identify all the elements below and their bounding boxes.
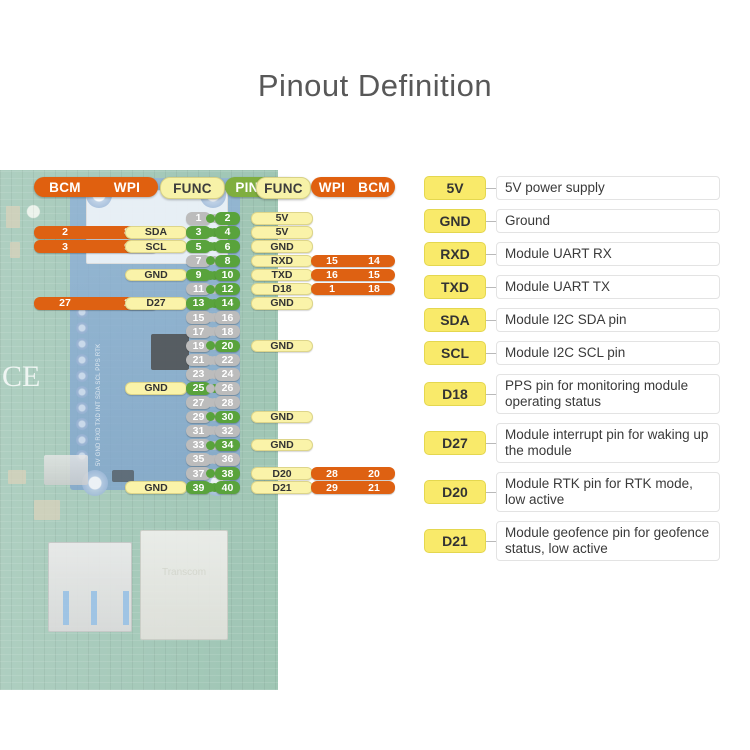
legend-row: D27Module interrupt pin for waking up th…: [424, 423, 720, 463]
legend-description: Module I2C SDA pin: [496, 308, 720, 332]
pin-row: 1112D18118: [0, 283, 420, 296]
pin-row: 78RXD1514: [0, 255, 420, 268]
legend-description: PPS pin for monitoring module operating …: [496, 374, 720, 414]
pin-row: 3334GND: [0, 439, 420, 452]
legend-connector-line: [486, 221, 496, 222]
pin-row: 28SDA345V: [0, 226, 420, 239]
right-pin-connector-dot: [206, 313, 215, 322]
pin-row: 2728: [0, 396, 420, 409]
pin-row: 2324: [0, 368, 420, 381]
pin-row: 1920GND: [0, 340, 420, 353]
right-pin-number[interactable]: 2: [215, 212, 240, 225]
legend-row: D18PPS pin for monitoring module operati…: [424, 374, 720, 414]
legend-pin-badge[interactable]: RXD: [424, 242, 486, 266]
right-wpi-bcm-badge[interactable]: 1615: [311, 269, 395, 282]
right-pin-number[interactable]: 18: [215, 325, 240, 338]
right-wpi-value: 1: [311, 283, 353, 295]
right-wpi-bcm-badge[interactable]: 2820: [311, 467, 395, 480]
pin-row: 3536: [0, 453, 420, 466]
right-pin-number[interactable]: 8: [215, 255, 240, 268]
pin-row: 39SCL56GND: [0, 240, 420, 253]
legend-connector-line: [486, 541, 496, 542]
right-wpi-bcm-badge[interactable]: 118: [311, 283, 395, 296]
right-pin-number[interactable]: 26: [215, 382, 240, 395]
legend-row: D20Module RTK pin for RTK mode, low acti…: [424, 472, 720, 512]
right-pin-connector-dot: [206, 356, 215, 365]
legend-row: GNDGround: [424, 209, 720, 233]
right-wpi-bcm-badge[interactable]: 1514: [311, 255, 395, 268]
header-right-wpi-label: WPI: [311, 180, 353, 195]
right-func-badge[interactable]: RXD: [251, 255, 313, 268]
right-wpi-value: 28: [311, 468, 353, 480]
legend-description: Module UART RX: [496, 242, 720, 266]
legend-row: RXDModule UART RX: [424, 242, 720, 266]
right-pin-connector-dot: [206, 384, 215, 393]
legend-description: Module interrupt pin for waking up the m…: [496, 423, 720, 463]
legend-pin-badge[interactable]: D21: [424, 529, 486, 553]
right-pin-connector-dot: [206, 299, 215, 308]
header-right-func: FUNC: [256, 177, 311, 199]
legend-connector-line: [486, 287, 496, 288]
right-pin-number[interactable]: 6: [215, 240, 240, 253]
pinout-definition-page: Pinout Definition CE 5V GND RXD TXD INT …: [0, 0, 750, 750]
left-func-badge[interactable]: GND: [125, 382, 187, 395]
header-left-bcm-label: BCM: [34, 180, 96, 195]
right-func-badge[interactable]: D20: [251, 467, 313, 480]
left-func-badge[interactable]: GND: [125, 481, 187, 494]
right-pin-connector-dot: [206, 271, 215, 280]
header-right-bcm-label: BCM: [353, 180, 395, 195]
left-func-badge[interactable]: D27: [125, 297, 187, 310]
right-pin-number[interactable]: 30: [215, 411, 240, 424]
ethernet-rj45-connector: Transcom: [140, 530, 228, 640]
pin-row: 3738D202820: [0, 467, 420, 480]
right-func-badge[interactable]: 5V: [251, 212, 313, 225]
right-pin-number[interactable]: 14: [215, 297, 240, 310]
right-pin-number[interactable]: 16: [215, 311, 240, 324]
pin-row: GND910TXD1615: [0, 269, 420, 282]
right-func-badge[interactable]: GND: [251, 240, 313, 253]
legend-row: D21Module geofence pin for geofence stat…: [424, 521, 720, 561]
legend-connector-line: [486, 353, 496, 354]
right-func-badge[interactable]: D18: [251, 283, 313, 296]
right-pin-connector-dot: [206, 214, 215, 223]
right-wpi-value: 15: [311, 255, 353, 267]
legend-description: Module UART TX: [496, 275, 720, 299]
right-pin-number[interactable]: 28: [215, 396, 240, 409]
left-func-badge[interactable]: SDA: [125, 226, 187, 239]
legend-row: SDAModule I2C SDA pin: [424, 308, 720, 332]
right-pin-number[interactable]: 24: [215, 368, 240, 381]
right-wpi-value: 16: [311, 269, 353, 281]
legend-connector-line: [486, 443, 496, 444]
right-pin-number[interactable]: 40: [215, 481, 240, 494]
right-pin-connector-dot: [206, 441, 215, 450]
right-pin-number[interactable]: 10: [215, 269, 240, 282]
legend-pin-badge[interactable]: D18: [424, 382, 486, 406]
pin-row: 2122: [0, 354, 420, 367]
legend-row: TXDModule UART TX: [424, 275, 720, 299]
right-func-badge[interactable]: GND: [251, 439, 313, 452]
header-left-bcm-wpi: BCM WPI: [34, 177, 158, 197]
header-right-wpi-bcm: WPI BCM: [311, 177, 395, 197]
right-pin-connector-dot: [206, 285, 215, 294]
right-bcm-value: 20: [353, 468, 395, 480]
legend-description: Module I2C SCL pin: [496, 341, 720, 365]
right-wpi-bcm-badge[interactable]: 2921: [311, 481, 395, 494]
right-func-badge[interactable]: GND: [251, 340, 313, 353]
right-pin-connector-dot: [206, 370, 215, 379]
legend-description: Ground: [496, 209, 720, 233]
left-bcm-value: 2: [34, 226, 96, 238]
right-bcm-value: 14: [353, 255, 395, 267]
legend-pin-badge[interactable]: TXD: [424, 275, 486, 299]
right-pin-number[interactable]: 36: [215, 453, 240, 466]
header-left-wpi-label: WPI: [96, 180, 158, 195]
right-func-badge[interactable]: 5V: [251, 226, 313, 239]
pin-row: 1516: [0, 311, 420, 324]
right-pin-connector-dot: [206, 469, 215, 478]
pin-row: 2930GND: [0, 411, 420, 424]
pin-row: 1718: [0, 325, 420, 338]
legend-connector-line: [486, 492, 496, 493]
pin-row: GND3940D212921: [0, 481, 420, 494]
right-wpi-value: 29: [311, 482, 353, 494]
legend-description: Module RTK pin for RTK mode, low active: [496, 472, 720, 512]
legend-pin-badge[interactable]: 5V: [424, 176, 486, 200]
pinout-table: BCM WPI FUNC PIN NO. FUNC WPI BCM 125V28…: [0, 0, 420, 520]
right-func-badge[interactable]: GND: [251, 297, 313, 310]
header-left-func: FUNC: [160, 177, 225, 199]
right-pin-number[interactable]: 22: [215, 354, 240, 367]
pin-row: 125V: [0, 212, 420, 225]
right-func-badge[interactable]: TXD: [251, 269, 313, 282]
right-pin-number[interactable]: 20: [215, 340, 240, 353]
right-pin-number[interactable]: 34: [215, 439, 240, 452]
right-func-badge[interactable]: D21: [251, 481, 313, 494]
right-pin-number[interactable]: 32: [215, 425, 240, 438]
right-pin-connector-dot: [206, 455, 215, 464]
legend-connector-line: [486, 394, 496, 395]
legend-pin-badge[interactable]: SCL: [424, 341, 486, 365]
right-pin-number[interactable]: 4: [215, 226, 240, 239]
legend-connector-line: [486, 188, 496, 189]
legend-description: 5V power supply: [496, 176, 720, 200]
legend-row: 5V5V power supply: [424, 176, 720, 200]
left-func-badge[interactable]: SCL: [125, 240, 187, 253]
pin-row: 3132: [0, 425, 420, 438]
left-bcm-value: 27: [34, 297, 96, 309]
pin-row: GND2526: [0, 382, 420, 395]
legend-description: Module geofence pin for geofence status,…: [496, 521, 720, 561]
right-func-badge[interactable]: GND: [251, 411, 313, 424]
legend-pin-badge[interactable]: D20: [424, 480, 486, 504]
right-pin-connector-dot: [206, 228, 215, 237]
usb-a-connector: [48, 542, 132, 632]
legend-row: SCLModule I2C SCL pin: [424, 341, 720, 365]
legend-pin-badge[interactable]: D27: [424, 431, 486, 455]
right-bcm-value: 15: [353, 269, 395, 281]
legend-pin-badge[interactable]: GND: [424, 209, 486, 233]
left-func-badge[interactable]: GND: [125, 269, 187, 282]
pin-row: 272D271314GND: [0, 297, 420, 310]
legend-connector-line: [486, 320, 496, 321]
right-bcm-value: 18: [353, 283, 395, 295]
right-pin-number[interactable]: 38: [215, 467, 240, 480]
legend-pin-badge[interactable]: SDA: [424, 308, 486, 332]
left-bcm-value: 3: [34, 241, 96, 253]
right-pin-number[interactable]: 12: [215, 283, 240, 296]
legend-connector-line: [486, 254, 496, 255]
right-bcm-value: 21: [353, 482, 395, 494]
